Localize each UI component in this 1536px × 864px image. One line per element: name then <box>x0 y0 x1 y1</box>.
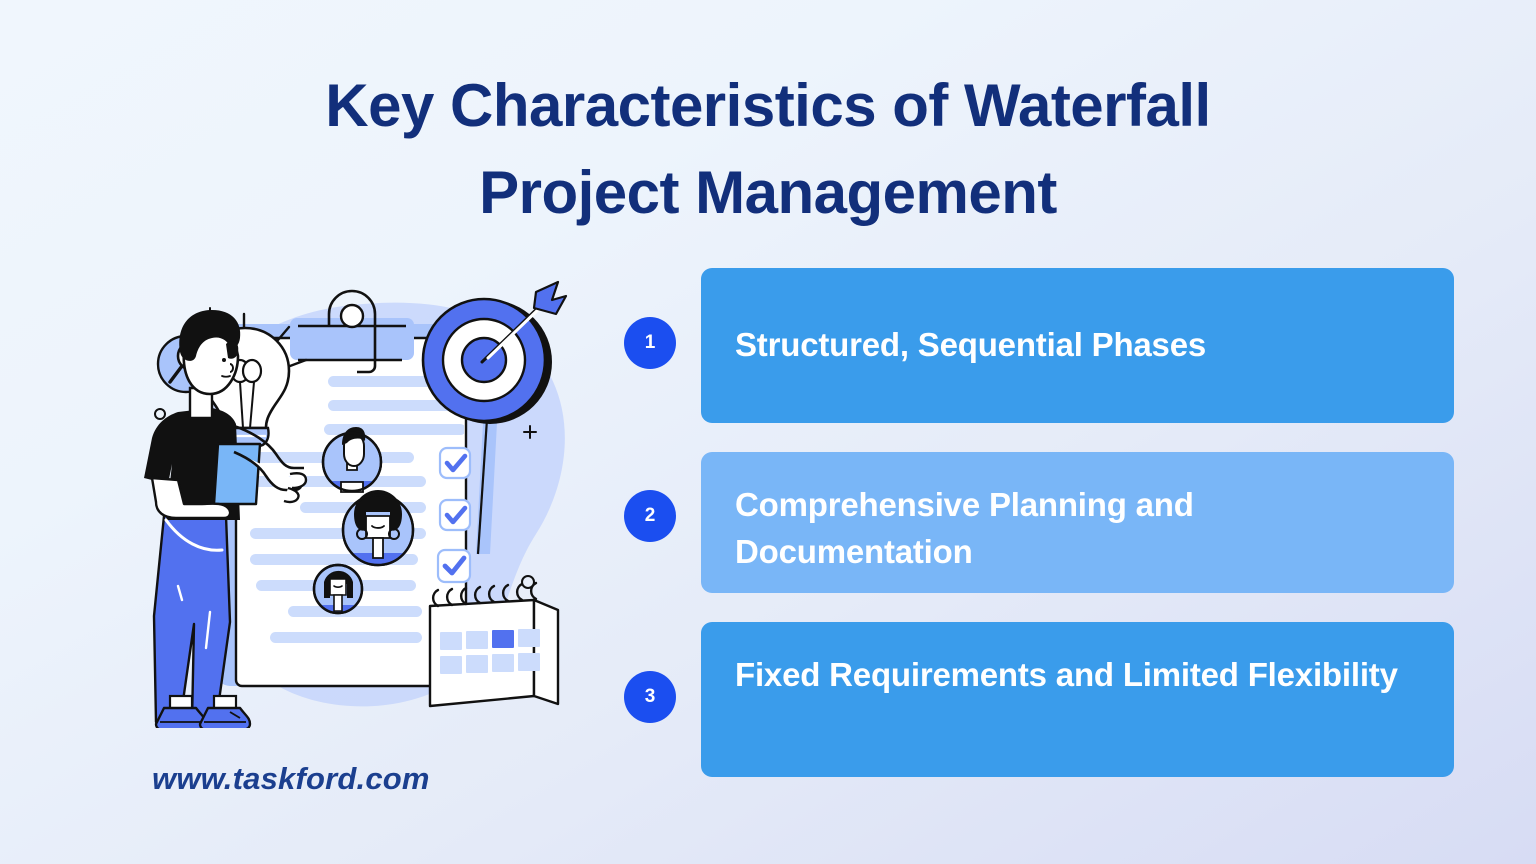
page-title-line-2: Project Management <box>0 149 1536 236</box>
checkbox-checked <box>438 448 470 582</box>
page-title-line-1: Key Characteristics of Waterfall <box>0 62 1536 149</box>
list-item: 3 Fixed Requirements and Limited Flexibi… <box>624 622 1454 777</box>
characteristic-card-2-label: Comprehensive Planning and Documentation <box>735 486 1194 570</box>
characteristic-card-3-label: Fixed Requirements and Limited Flexibili… <box>735 656 1398 693</box>
characteristic-card-1-label: Structured, Sequential Phases <box>735 322 1206 369</box>
infographic-page: Key Characteristics of Waterfall Project… <box>0 0 1536 864</box>
characteristic-card-1[interactable]: Structured, Sequential Phases <box>701 268 1454 423</box>
card-number-badge-3: 3 <box>624 671 676 723</box>
characteristic-card-2[interactable]: Comprehensive Planning and Documentation <box>701 452 1454 593</box>
characteristics-list: 1 Structured, Sequential Phases 2 Compre… <box>624 268 1454 806</box>
page-title: Key Characteristics of Waterfall Project… <box>0 62 1536 236</box>
characteristic-card-3[interactable]: Fixed Requirements and Limited Flexibili… <box>701 622 1454 777</box>
site-url[interactable]: www.taskford.com <box>152 761 430 797</box>
card-number-badge-1: 1 <box>624 317 676 369</box>
list-item: 1 Structured, Sequential Phases <box>624 268 1454 423</box>
planning-checklist-illustration <box>138 266 590 728</box>
list-item: 2 Comprehensive Planning and Documentati… <box>624 452 1454 593</box>
calendar-icon <box>430 583 558 706</box>
card-number-badge-2: 2 <box>624 490 676 542</box>
